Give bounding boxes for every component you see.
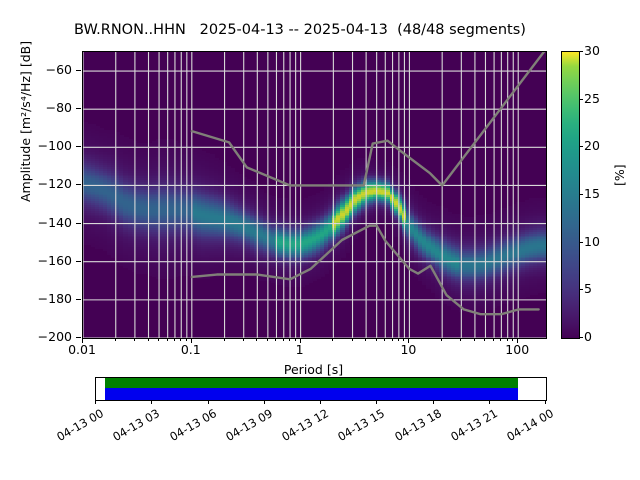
x-axis-tick-mark bbox=[256, 338, 257, 341]
data-coverage-timeline[interactable] bbox=[95, 377, 547, 401]
x-axis-tick-mark bbox=[82, 338, 83, 343]
x-axis-tick-mark bbox=[148, 338, 149, 341]
peterson-noise-model-curves bbox=[83, 52, 546, 338]
x-axis-tick-mark bbox=[283, 338, 284, 341]
x-axis-tick-mark bbox=[493, 338, 494, 341]
x-axis-tick-label: 10 bbox=[400, 342, 416, 357]
y-axis-tick-mark bbox=[76, 108, 81, 109]
y-axis-tick-mark bbox=[76, 299, 81, 300]
timeline-data-band bbox=[105, 388, 518, 400]
timeline-tick-label: 04-13 03 bbox=[107, 406, 162, 446]
ppsd-plot-area[interactable] bbox=[82, 51, 547, 339]
timeline-tick-mark bbox=[320, 400, 321, 404]
colorbar-tick-label: 15 bbox=[584, 186, 600, 201]
x-axis-tick-label: 100 bbox=[505, 342, 529, 357]
colorbar-tick-mark bbox=[579, 337, 583, 338]
x-axis-tick-mark bbox=[224, 338, 225, 341]
x-axis-tick-mark bbox=[180, 338, 181, 341]
timeline-coverage-band bbox=[105, 378, 518, 388]
x-axis-tick-mark bbox=[275, 338, 276, 341]
x-axis-tick-mark bbox=[167, 338, 168, 341]
timeline-tick-label: 04-13 21 bbox=[444, 406, 499, 446]
colorbar-tick-label: 30 bbox=[584, 43, 600, 58]
timeline-tick-label: 04-14 00 bbox=[501, 406, 556, 446]
x-axis-tick-mark bbox=[174, 338, 175, 341]
colorbar-tick-mark bbox=[579, 242, 583, 243]
colorbar-tick-label: 25 bbox=[584, 91, 600, 106]
x-axis-tick-mark bbox=[460, 338, 461, 341]
x-axis-tick-mark bbox=[403, 338, 404, 341]
colorbar-tick-mark bbox=[579, 51, 583, 52]
x-axis-tick-mark bbox=[186, 338, 187, 341]
x-axis-tick-label: 0.01 bbox=[68, 342, 96, 357]
y-axis-tick-mark bbox=[76, 70, 81, 71]
x-axis-tick-mark bbox=[392, 338, 393, 341]
timeline-tick-mark bbox=[151, 400, 152, 404]
x-axis-tick-mark bbox=[191, 338, 192, 343]
y-axis-tick-label: −200 bbox=[20, 329, 72, 344]
colorbar-tick-label: 10 bbox=[584, 234, 600, 249]
x-axis-tick-mark bbox=[517, 338, 518, 343]
x-axis-tick-mark bbox=[332, 338, 333, 341]
y-axis-tick-mark bbox=[76, 146, 81, 147]
y-axis-tick-label: −100 bbox=[20, 138, 72, 153]
colorbar[interactable] bbox=[561, 51, 580, 339]
x-axis-tick-mark bbox=[500, 338, 501, 341]
x-axis-tick-mark bbox=[376, 338, 377, 341]
timeline-tick-mark bbox=[264, 400, 265, 404]
y-axis-tick-label: −120 bbox=[20, 176, 72, 191]
timeline-tick-label: 04-13 15 bbox=[332, 406, 387, 446]
x-axis-tick-mark bbox=[398, 338, 399, 341]
x-axis-tick-mark bbox=[295, 338, 296, 341]
x-axis-tick-mark bbox=[512, 338, 513, 341]
y-axis-tick-label: −180 bbox=[20, 291, 72, 306]
timeline-tick-mark bbox=[376, 400, 377, 404]
colorbar-tick-mark bbox=[579, 146, 583, 147]
timeline-tick-mark bbox=[545, 400, 546, 404]
x-axis-tick-mark bbox=[267, 338, 268, 341]
y-axis-tick-mark bbox=[76, 261, 81, 262]
x-axis-tick-mark bbox=[352, 338, 353, 341]
y-axis-tick-label: −60 bbox=[20, 62, 72, 77]
y-axis-tick-mark bbox=[76, 184, 81, 185]
x-axis-tick-mark bbox=[115, 338, 116, 341]
y-axis-tick-mark bbox=[76, 337, 81, 338]
x-axis-tick-mark bbox=[408, 338, 409, 343]
x-axis-tick-mark bbox=[158, 338, 159, 341]
x-axis-tick-mark bbox=[507, 338, 508, 341]
x-axis-tick-mark bbox=[441, 338, 442, 341]
page-title: BW.RNON..HHN 2025-04-13 -- 2025-04-13 (4… bbox=[0, 22, 600, 38]
x-axis-tick-label: 0.1 bbox=[181, 342, 201, 357]
colorbar-tick-label: 0 bbox=[584, 329, 592, 344]
timeline-tick-label: 04-13 12 bbox=[276, 406, 331, 446]
timeline-tick-label: 04-13 00 bbox=[51, 406, 106, 446]
colorbar-tick-mark bbox=[579, 99, 583, 100]
colorbar-tick-label: 20 bbox=[584, 138, 600, 153]
x-axis-tick-mark bbox=[474, 338, 475, 341]
x-axis-tick-mark bbox=[134, 338, 135, 341]
timeline-tick-mark bbox=[95, 400, 96, 404]
y-axis-tick-label: −140 bbox=[20, 215, 72, 230]
timeline-tick-label: 04-13 18 bbox=[388, 406, 443, 446]
y-axis-tick-label: −160 bbox=[20, 253, 72, 268]
timeline-tick-label: 04-13 06 bbox=[163, 406, 218, 446]
timeline-tick-mark bbox=[433, 400, 434, 404]
colorbar-tick-mark bbox=[579, 194, 583, 195]
x-axis-tick-mark bbox=[484, 338, 485, 341]
x-axis-label: Period [s] bbox=[82, 362, 545, 377]
colorbar-tick-mark bbox=[579, 289, 583, 290]
x-axis-tick-mark bbox=[365, 338, 366, 341]
x-axis-tick-mark bbox=[384, 338, 385, 341]
y-axis-tick-mark bbox=[76, 223, 81, 224]
ppsd-figure: BW.RNON..HHN 2025-04-13 -- 2025-04-13 (4… bbox=[0, 0, 640, 480]
colorbar-tick-label: 5 bbox=[584, 281, 592, 296]
timeline-tick-mark bbox=[208, 400, 209, 404]
timeline-tick-label: 04-13 09 bbox=[219, 406, 274, 446]
y-axis-tick-label: −80 bbox=[20, 100, 72, 115]
x-axis-tick-mark bbox=[289, 338, 290, 341]
x-axis-tick-label: 1 bbox=[296, 342, 304, 357]
timeline-tick-mark bbox=[489, 400, 490, 404]
x-axis-tick-mark bbox=[300, 338, 301, 343]
x-axis-tick-mark bbox=[243, 338, 244, 341]
colorbar-label: [%] bbox=[612, 164, 627, 186]
